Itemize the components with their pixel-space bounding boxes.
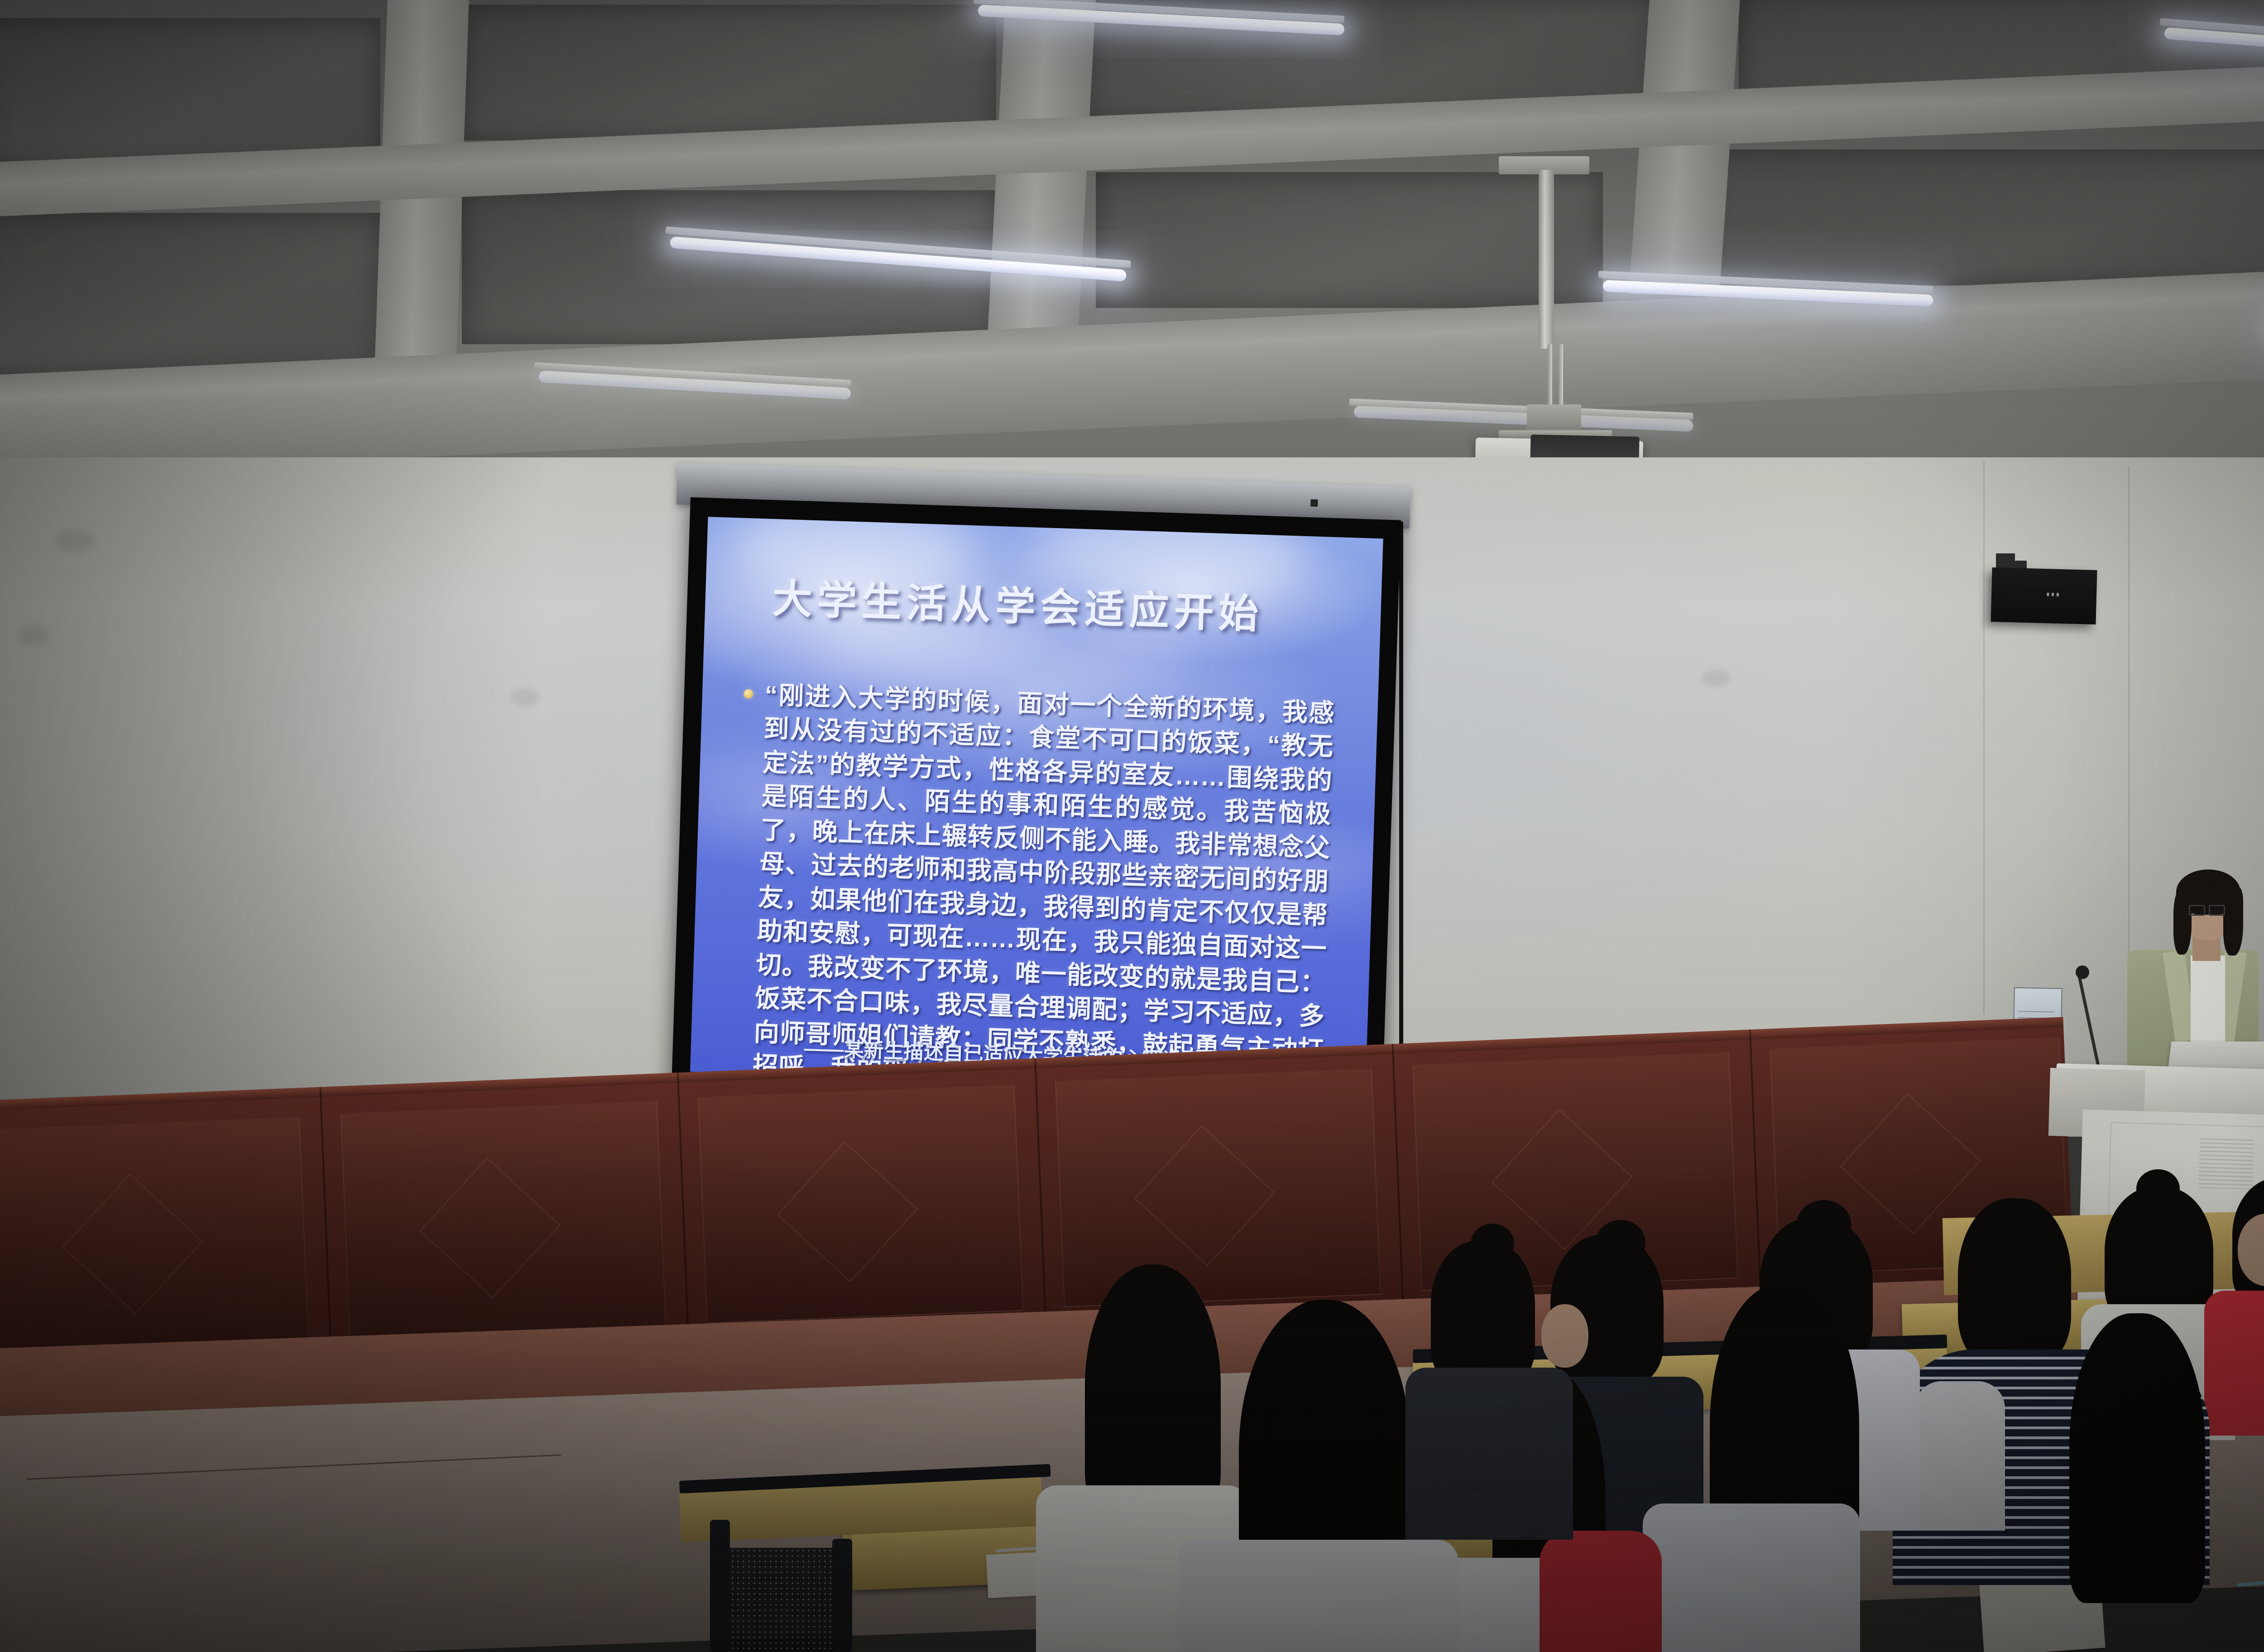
wall-blemish <box>18 625 50 646</box>
wainscot-seam <box>1391 1044 1405 1328</box>
speaker-logo: ∎∎∎ <box>2046 590 2061 598</box>
wainscot-seam <box>677 1073 690 1357</box>
wainscot-seam <box>1034 1058 1047 1343</box>
seat-arm <box>710 1520 730 1652</box>
notice-line <box>2018 1011 2054 1012</box>
slide-surface: 大学生活从学会适应开始 “刚进入大学的时候，面对一个全新的环境，我感到从没有过的… <box>690 517 1383 1094</box>
ceiling-coffer <box>1096 172 1603 308</box>
ceiling-coffer <box>0 18 380 168</box>
wainscot-seam <box>319 1087 332 1371</box>
slide-bullet-marker <box>744 689 753 699</box>
ceiling-coffer <box>1703 149 2264 285</box>
student-body <box>2204 1291 2264 1436</box>
student-hair <box>2069 1313 2205 1603</box>
projector-mount-arm <box>1559 344 1563 408</box>
projector-mount-arm <box>1548 344 1552 408</box>
student-hair <box>1431 1241 1535 1386</box>
projection-screen[interactable]: 大学生活从学会适应开始 “刚进入大学的时候，面对一个全新的环境，我感到从没有过的… <box>672 497 1401 1112</box>
wall-blemish <box>512 688 539 706</box>
wall-seam <box>2128 466 2130 1001</box>
student-hair <box>1958 1198 2071 1366</box>
ceiling-coffer <box>462 5 996 140</box>
presenter-glasses <box>2209 905 2225 916</box>
ceiling-coffer <box>462 190 996 344</box>
seat-arm <box>832 1539 852 1652</box>
wall-seam <box>1983 462 1985 1014</box>
student-head <box>1541 1304 1588 1368</box>
seat-back-perforated <box>730 1548 833 1652</box>
wall-blemish <box>1703 670 1730 687</box>
wall-blemish <box>54 530 95 552</box>
ceiling-beam-vertical <box>373 0 469 408</box>
microphone-head <box>2076 965 2089 979</box>
lecture-hall-photo: 大学生活从学会适应开始 “刚进入大学的时候，面对一个全新的环境，我感到从没有过的… <box>0 0 2264 1652</box>
podium-vent-grille <box>2198 1138 2254 1189</box>
student-body <box>1405 1368 1573 1540</box>
student-body <box>1914 1381 2005 1531</box>
wall-speaker: ∎∎∎ <box>1991 567 2097 624</box>
presenter-hair-side <box>2223 888 2243 956</box>
ceiling-coffer <box>0 213 380 376</box>
projector-mount-yoke <box>1527 404 1581 432</box>
student-body <box>1643 1503 1860 1652</box>
student-body <box>1540 1531 1662 1652</box>
presenter-glasses <box>2189 905 2205 916</box>
screen-case-endcap <box>1310 499 1318 507</box>
student-body <box>1177 1540 1458 1652</box>
presenter-hair-side <box>2173 888 2192 955</box>
student-hair <box>1085 1264 1221 1518</box>
screen-side-edge <box>1399 522 1403 1088</box>
projector-mount-pole <box>1539 170 1554 349</box>
slide-body-text: “刚进入大学的时候，面对一个全新的环境，我感到从没有过的不适应：食堂不可口的饭菜… <box>750 678 1335 1094</box>
